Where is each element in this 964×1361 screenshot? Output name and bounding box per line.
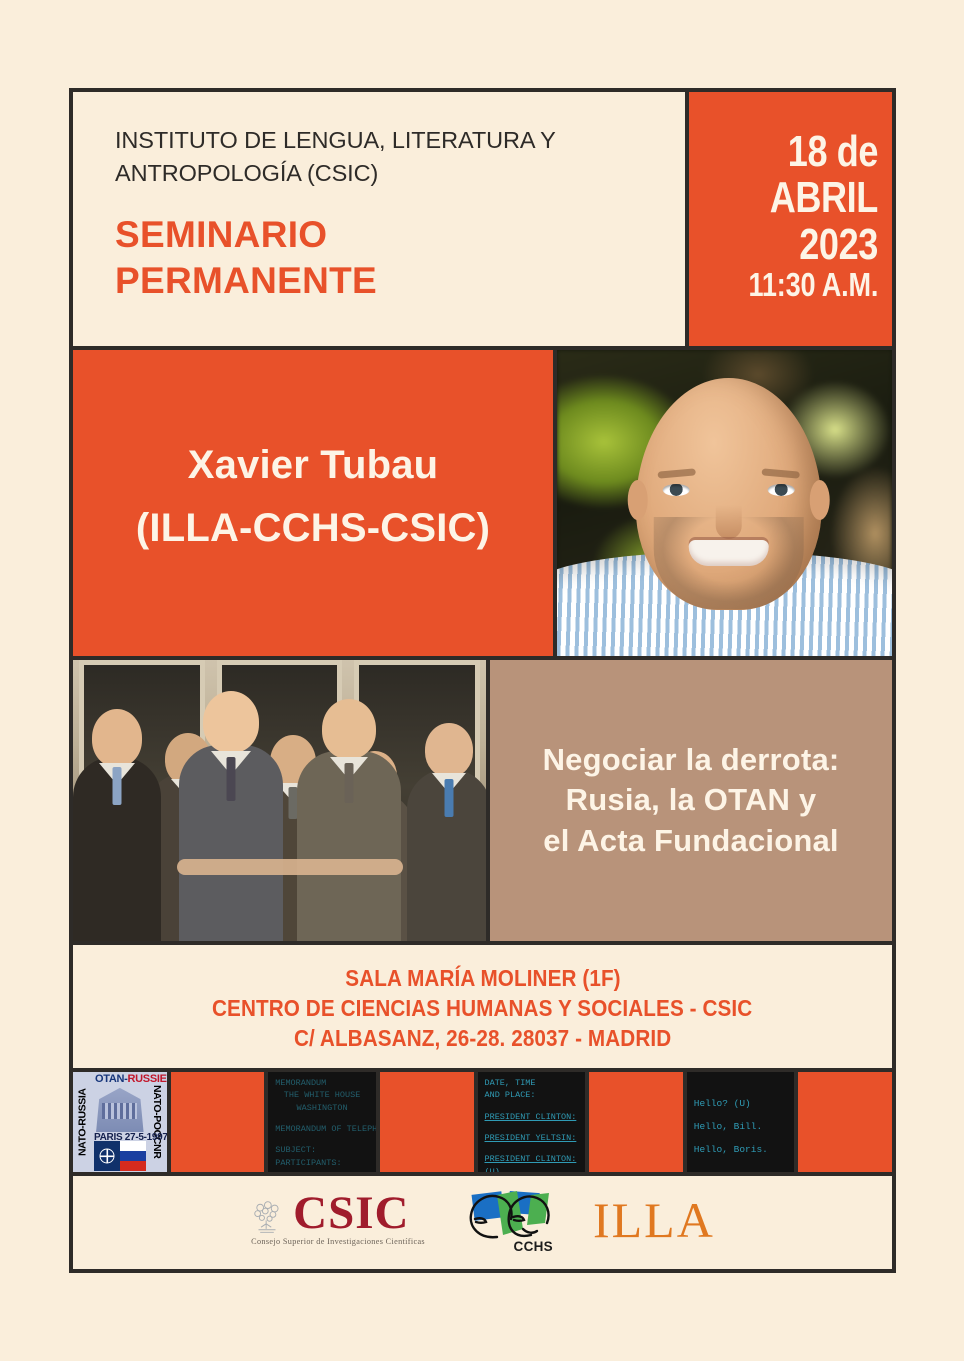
portrait-brow-right — [761, 469, 799, 479]
nato-side-left: NATO-RUSSIA — [73, 1072, 92, 1172]
portrait-eye-left — [662, 484, 689, 496]
photo-figure-tie — [113, 767, 122, 805]
photo-figure-head — [92, 709, 142, 767]
date-time: 11:30 A.M. — [748, 268, 878, 303]
doc-line: AND PLACE: — [485, 1089, 579, 1101]
illa-logo: ILLA — [593, 1195, 715, 1245]
photo-figure-head — [425, 723, 473, 777]
photo-joined-hands — [177, 859, 403, 875]
filmstrip-document-dialogue: Hello? (U) Hello, Bill. Hello, Boris. — [687, 1072, 799, 1172]
nato-poster-top-title: OTAN-RUSSIE — [95, 1073, 145, 1085]
date-badge: 18 de ABRIL 2023 11:30 A.M. — [685, 92, 892, 346]
venue-address: C/ ALBASANZ, 26-28. 28037 - MADRID — [294, 1025, 671, 1052]
filmstrip-document-participants: DATE, TIME AND PLACE: PRESIDENT CLINTON:… — [478, 1072, 590, 1172]
speaker-affiliation: (ILLA-CCHS-CSIC) — [136, 503, 490, 553]
nato-flag-icon — [94, 1141, 120, 1171]
doc-line: THE WHITE HOUSE — [275, 1089, 369, 1101]
filmstrip-orange-cell — [380, 1072, 478, 1172]
doc-line: DATE, TIME — [485, 1077, 579, 1089]
filmstrip: OTAN-RUSSIE NATO-RUSSIA NATO-POCCNR PARI… — [73, 1072, 892, 1176]
filmstrip-orange-cell — [798, 1072, 892, 1172]
cchs-logo: CCHS — [453, 1189, 565, 1251]
poster-header: INSTITUTO DE LENGUA, LITERATURA Y ANTROP… — [73, 92, 892, 350]
photo-figure-front — [297, 751, 401, 941]
doc-line: Hello? (U) — [694, 1097, 788, 1111]
doc-line: WASHINGTON — [275, 1102, 369, 1114]
topic-line-3: el Acta Fundacional — [543, 821, 840, 861]
doc-line: (U) — [485, 1166, 579, 1172]
csic-logo: CSIC Consejo Superior de Investigaciones… — [250, 1193, 425, 1245]
topic-line-2: Rusia, la OTAN y — [543, 780, 840, 820]
seminar-poster: INSTITUTO DE LENGUA, LITERATURA Y ANTROP… — [69, 88, 896, 1273]
nato-side-right-text: NATO-POCCNR — [151, 1085, 163, 1158]
portrait-ear-right — [809, 480, 829, 520]
portrait-smile — [688, 540, 768, 566]
photo-figure-front — [73, 757, 161, 941]
date-month: ABRIL — [770, 175, 878, 222]
photo-figure-front — [407, 769, 490, 941]
doc-line: PARTICIPANTS: — [275, 1157, 369, 1169]
speaker-name: Xavier Tubau — [188, 441, 439, 489]
csic-tree-icon — [250, 1200, 284, 1234]
logo-footer: CSIC Consejo Superior de Investigaciones… — [73, 1176, 892, 1269]
filmstrip-nato-poster: OTAN-RUSSIE NATO-RUSSIA NATO-POCCNR PARI… — [73, 1072, 171, 1172]
doc-line: PRESIDENT CLINTON: — [485, 1111, 579, 1123]
venue-center: CENTRO DE CIENCIAS HUMANAS Y SOCIALES - … — [212, 995, 752, 1022]
cchs-label: CCHS — [514, 1239, 553, 1254]
speaker-name-block: Xavier Tubau (ILLA-CCHS-CSIC) — [73, 350, 553, 656]
doc-line: Hello, Bill. — [694, 1120, 788, 1134]
date-day: 18 de — [788, 129, 878, 176]
doc-line: MEMORANDUM — [275, 1077, 369, 1089]
csic-logo-top: CSIC — [250, 1193, 409, 1233]
venue-room: SALA MARÍA MOLINER (1F) — [345, 965, 620, 992]
nato-building-icon — [94, 1085, 146, 1132]
portrait-eye-right — [767, 484, 794, 496]
institute-line-1: INSTITUTO DE LENGUA, LITERATURA Y — [115, 124, 659, 157]
date-year: 2023 — [799, 222, 878, 269]
portrait-ear-left — [627, 480, 647, 520]
photo-figure-tie — [345, 763, 354, 803]
doc-line: PRESIDENT CLINTON: — [485, 1153, 579, 1165]
photo-figure-head — [203, 691, 259, 753]
topic-title: Negociar la derrota: Rusia, la OTAN y el… — [543, 740, 840, 861]
seminar-title-line-1: SEMINARIO — [115, 212, 659, 259]
csic-wordmark: CSIC — [293, 1193, 409, 1233]
topic-row: Negociar la derrota: Rusia, la OTAN y el… — [73, 660, 892, 945]
russia-flag-icon — [120, 1141, 146, 1171]
nato-flags — [94, 1141, 146, 1171]
photo-figure-tie — [227, 757, 236, 801]
nato-side-left-text: NATO-RUSSIA — [77, 1088, 89, 1156]
speaker-row: Xavier Tubau (ILLA-CCHS-CSIC) — [73, 350, 892, 660]
seminar-title-line-2: PERMANENTE — [115, 258, 659, 305]
speaker-portrait-photo — [553, 350, 892, 656]
nato-top-left: OTAN- — [95, 1073, 128, 1085]
filmstrip-orange-cell — [171, 1072, 269, 1172]
institute-line-2: ANTROPOLOGÍA (CSIC) — [115, 157, 659, 190]
filmstrip-orange-cell — [589, 1072, 687, 1172]
csic-subtitle: Consejo Superior de Investigaciones Cien… — [251, 1237, 425, 1246]
header-title-block: INSTITUTO DE LENGUA, LITERATURA Y ANTROP… — [73, 92, 685, 346]
photo-people-group — [73, 722, 486, 941]
photo-figure-head — [322, 699, 376, 759]
doc-line: Hello, Boris. — [694, 1143, 788, 1157]
doc-line: MEMORANDUM OF TELEPHONE CONVERSATION — [275, 1123, 369, 1135]
portrait-brow-left — [657, 469, 695, 479]
topic-line-1: Negociar la derrota: — [543, 740, 840, 780]
doc-line: PRESIDENT YELTSIN: — [485, 1132, 579, 1144]
doc-line: SUBJECT: — [275, 1144, 369, 1156]
historic-leaders-photo — [73, 660, 490, 941]
filmstrip-document-memo: MEMORANDUM THE WHITE HOUSE WASHINGTON ME… — [268, 1072, 380, 1172]
topic-title-block: Negociar la derrota: Rusia, la OTAN y el… — [490, 660, 892, 941]
venue-block: SALA MARÍA MOLINER (1F) CENTRO DE CIENCI… — [73, 945, 892, 1072]
photo-figure-tie — [445, 779, 454, 817]
nato-side-right: NATO-POCCNR — [148, 1072, 167, 1172]
photo-figure-front — [179, 745, 283, 941]
